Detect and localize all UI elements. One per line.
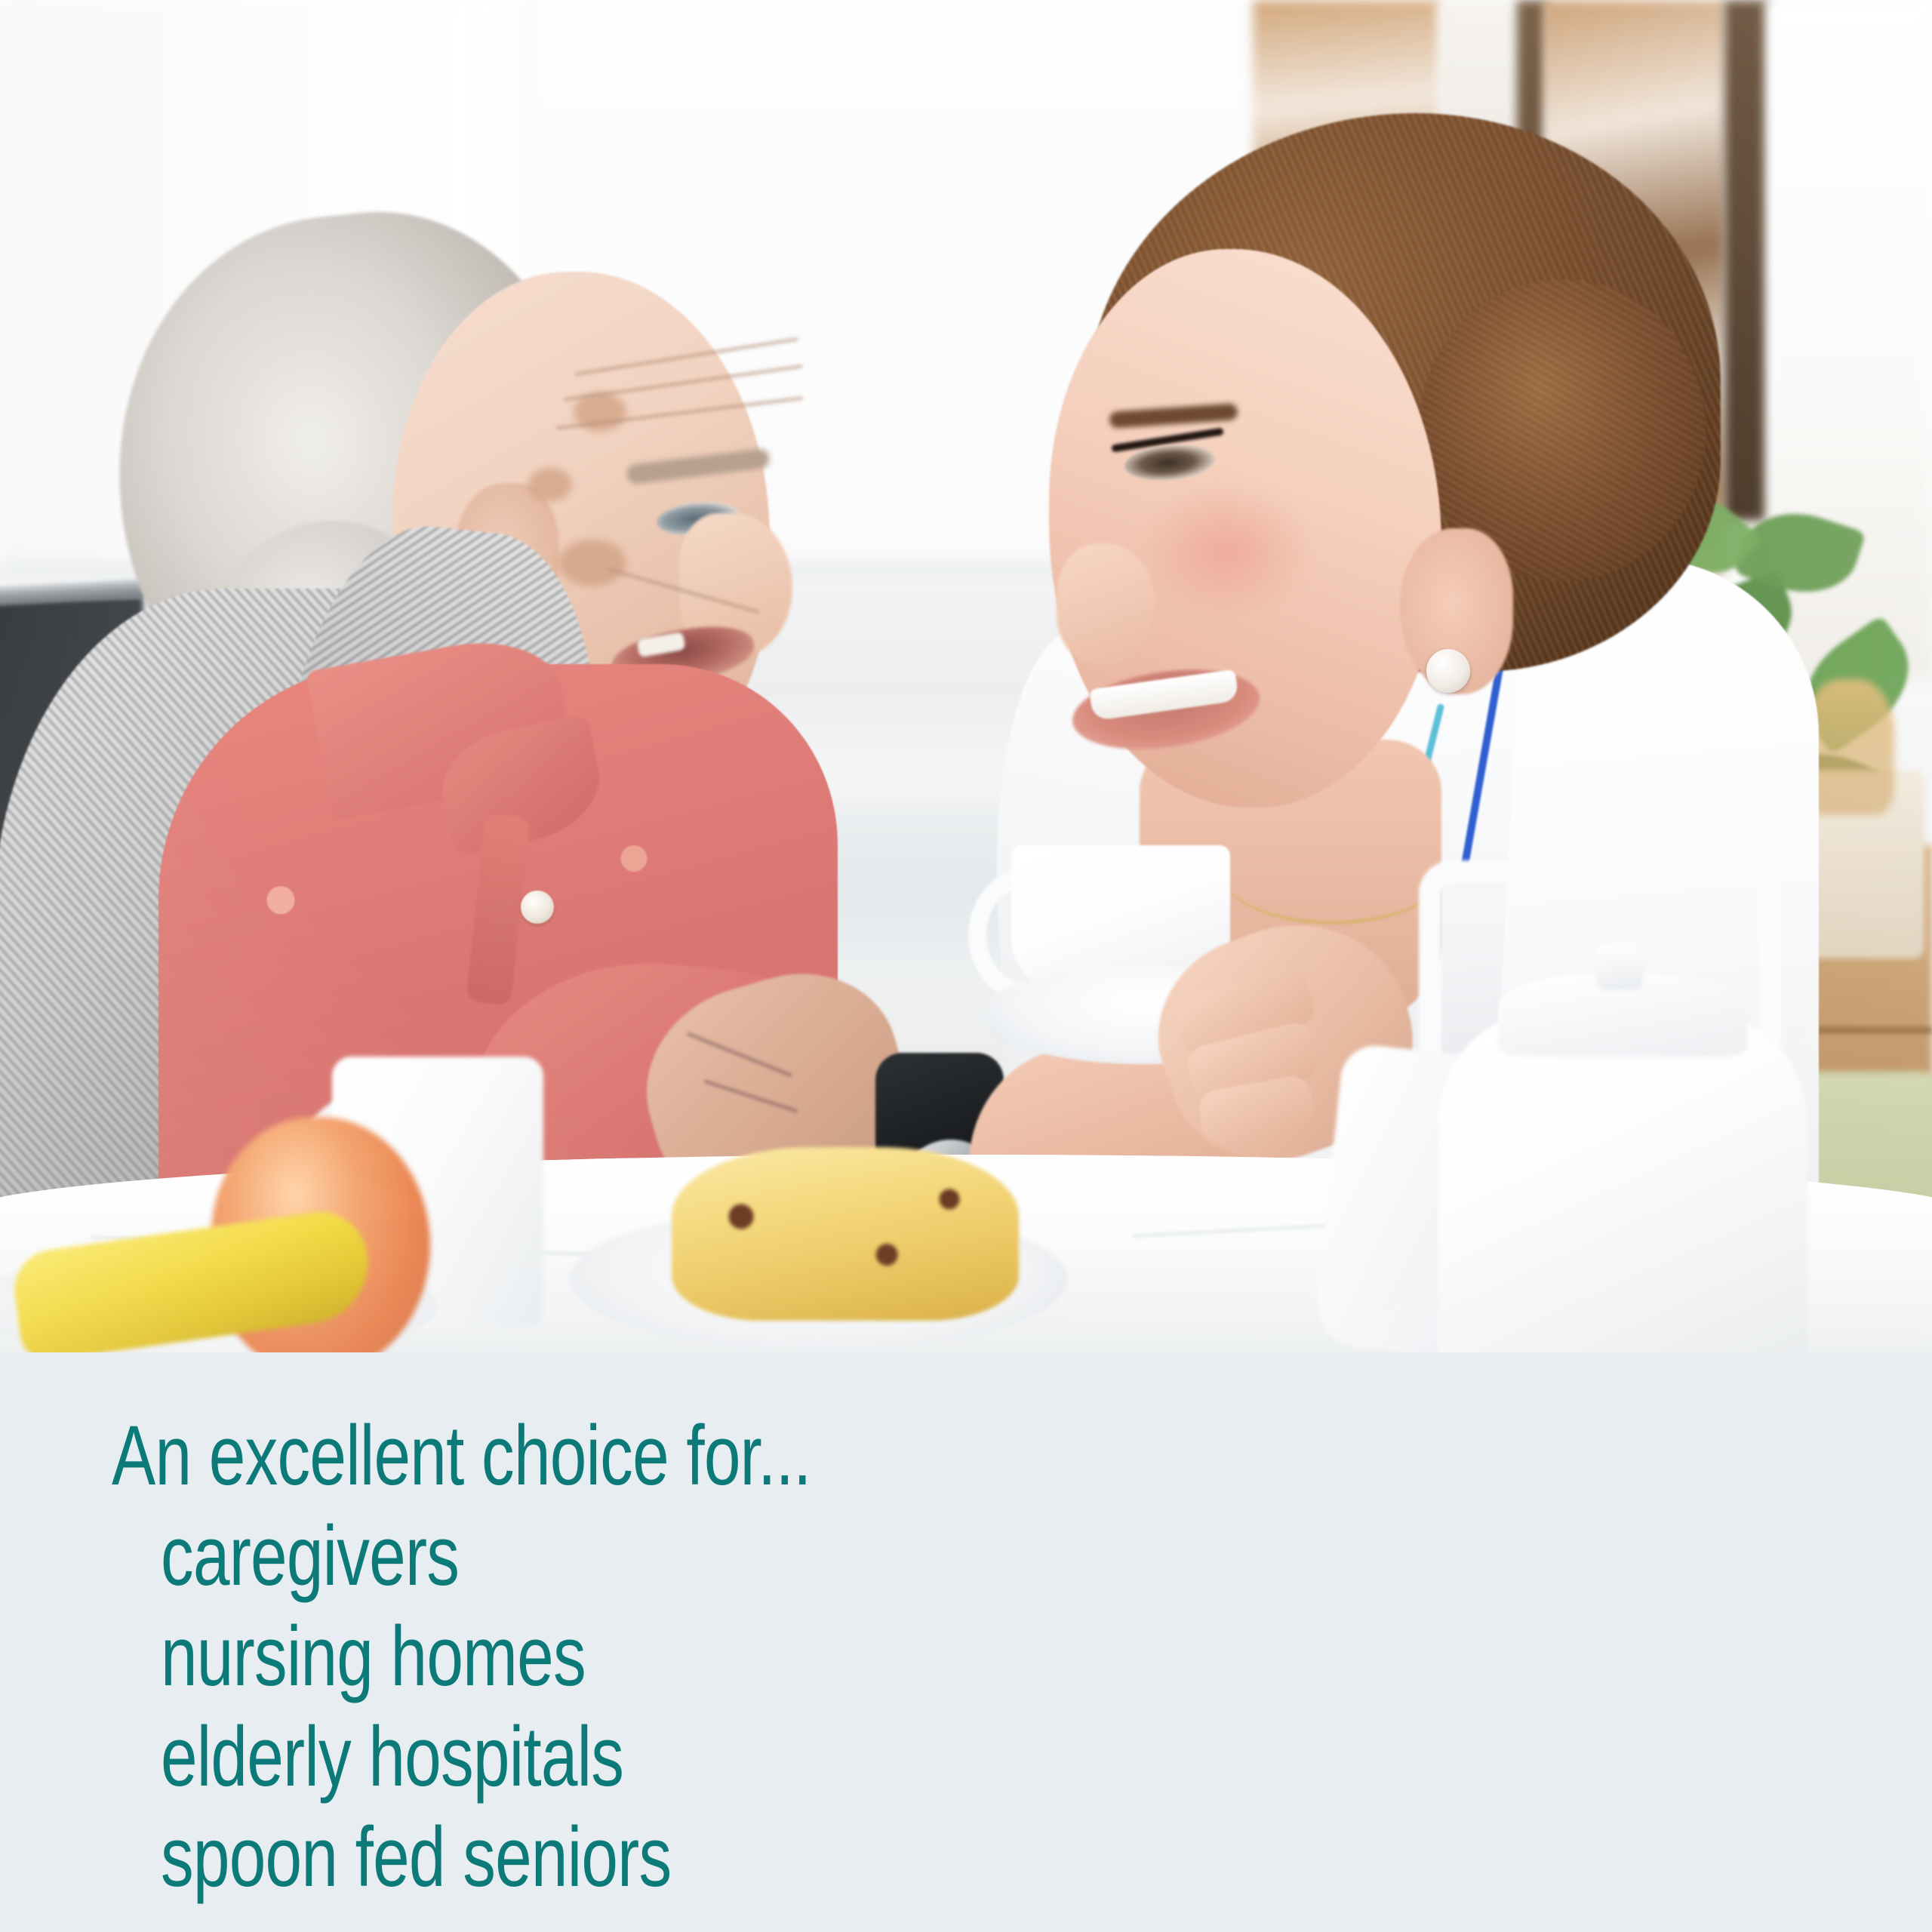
decor-post-2 [1724,0,1770,521]
caption-left-item-3: elderly hospitals [161,1706,623,1807]
teapot-body [1438,1015,1807,1352]
slice-of-cake [672,1147,1019,1321]
caption-band: An excellent choice for... caregivers nu… [0,1352,1932,1932]
caption-left-item-4: spoon fed seniors [161,1807,671,1907]
nurse-necklace [1223,823,1441,924]
page-root: An excellent choice for... caregivers nu… [0,0,1932,1932]
blouse-button [521,891,554,924]
nurse-nose [1057,543,1155,664]
product-lifestyle-photo [0,0,1932,1352]
caption-left-item-1: caregivers [161,1506,459,1606]
age-spot [528,468,572,501]
caption-right-column: Ancerebral palsy Parkinson´s severe arth… [1132,1352,1932,1932]
caption-heading: An excellent choice for... [112,1405,811,1506]
age-spot [558,540,626,586]
pearl-earring [1426,649,1470,693]
caption-left-item-2: nursing homes [161,1606,586,1706]
nurse-cheek-blush [1140,483,1313,619]
caption-left-column: An excellent choice for... caregivers nu… [0,1352,1132,1932]
teapot-knob [1596,943,1643,990]
